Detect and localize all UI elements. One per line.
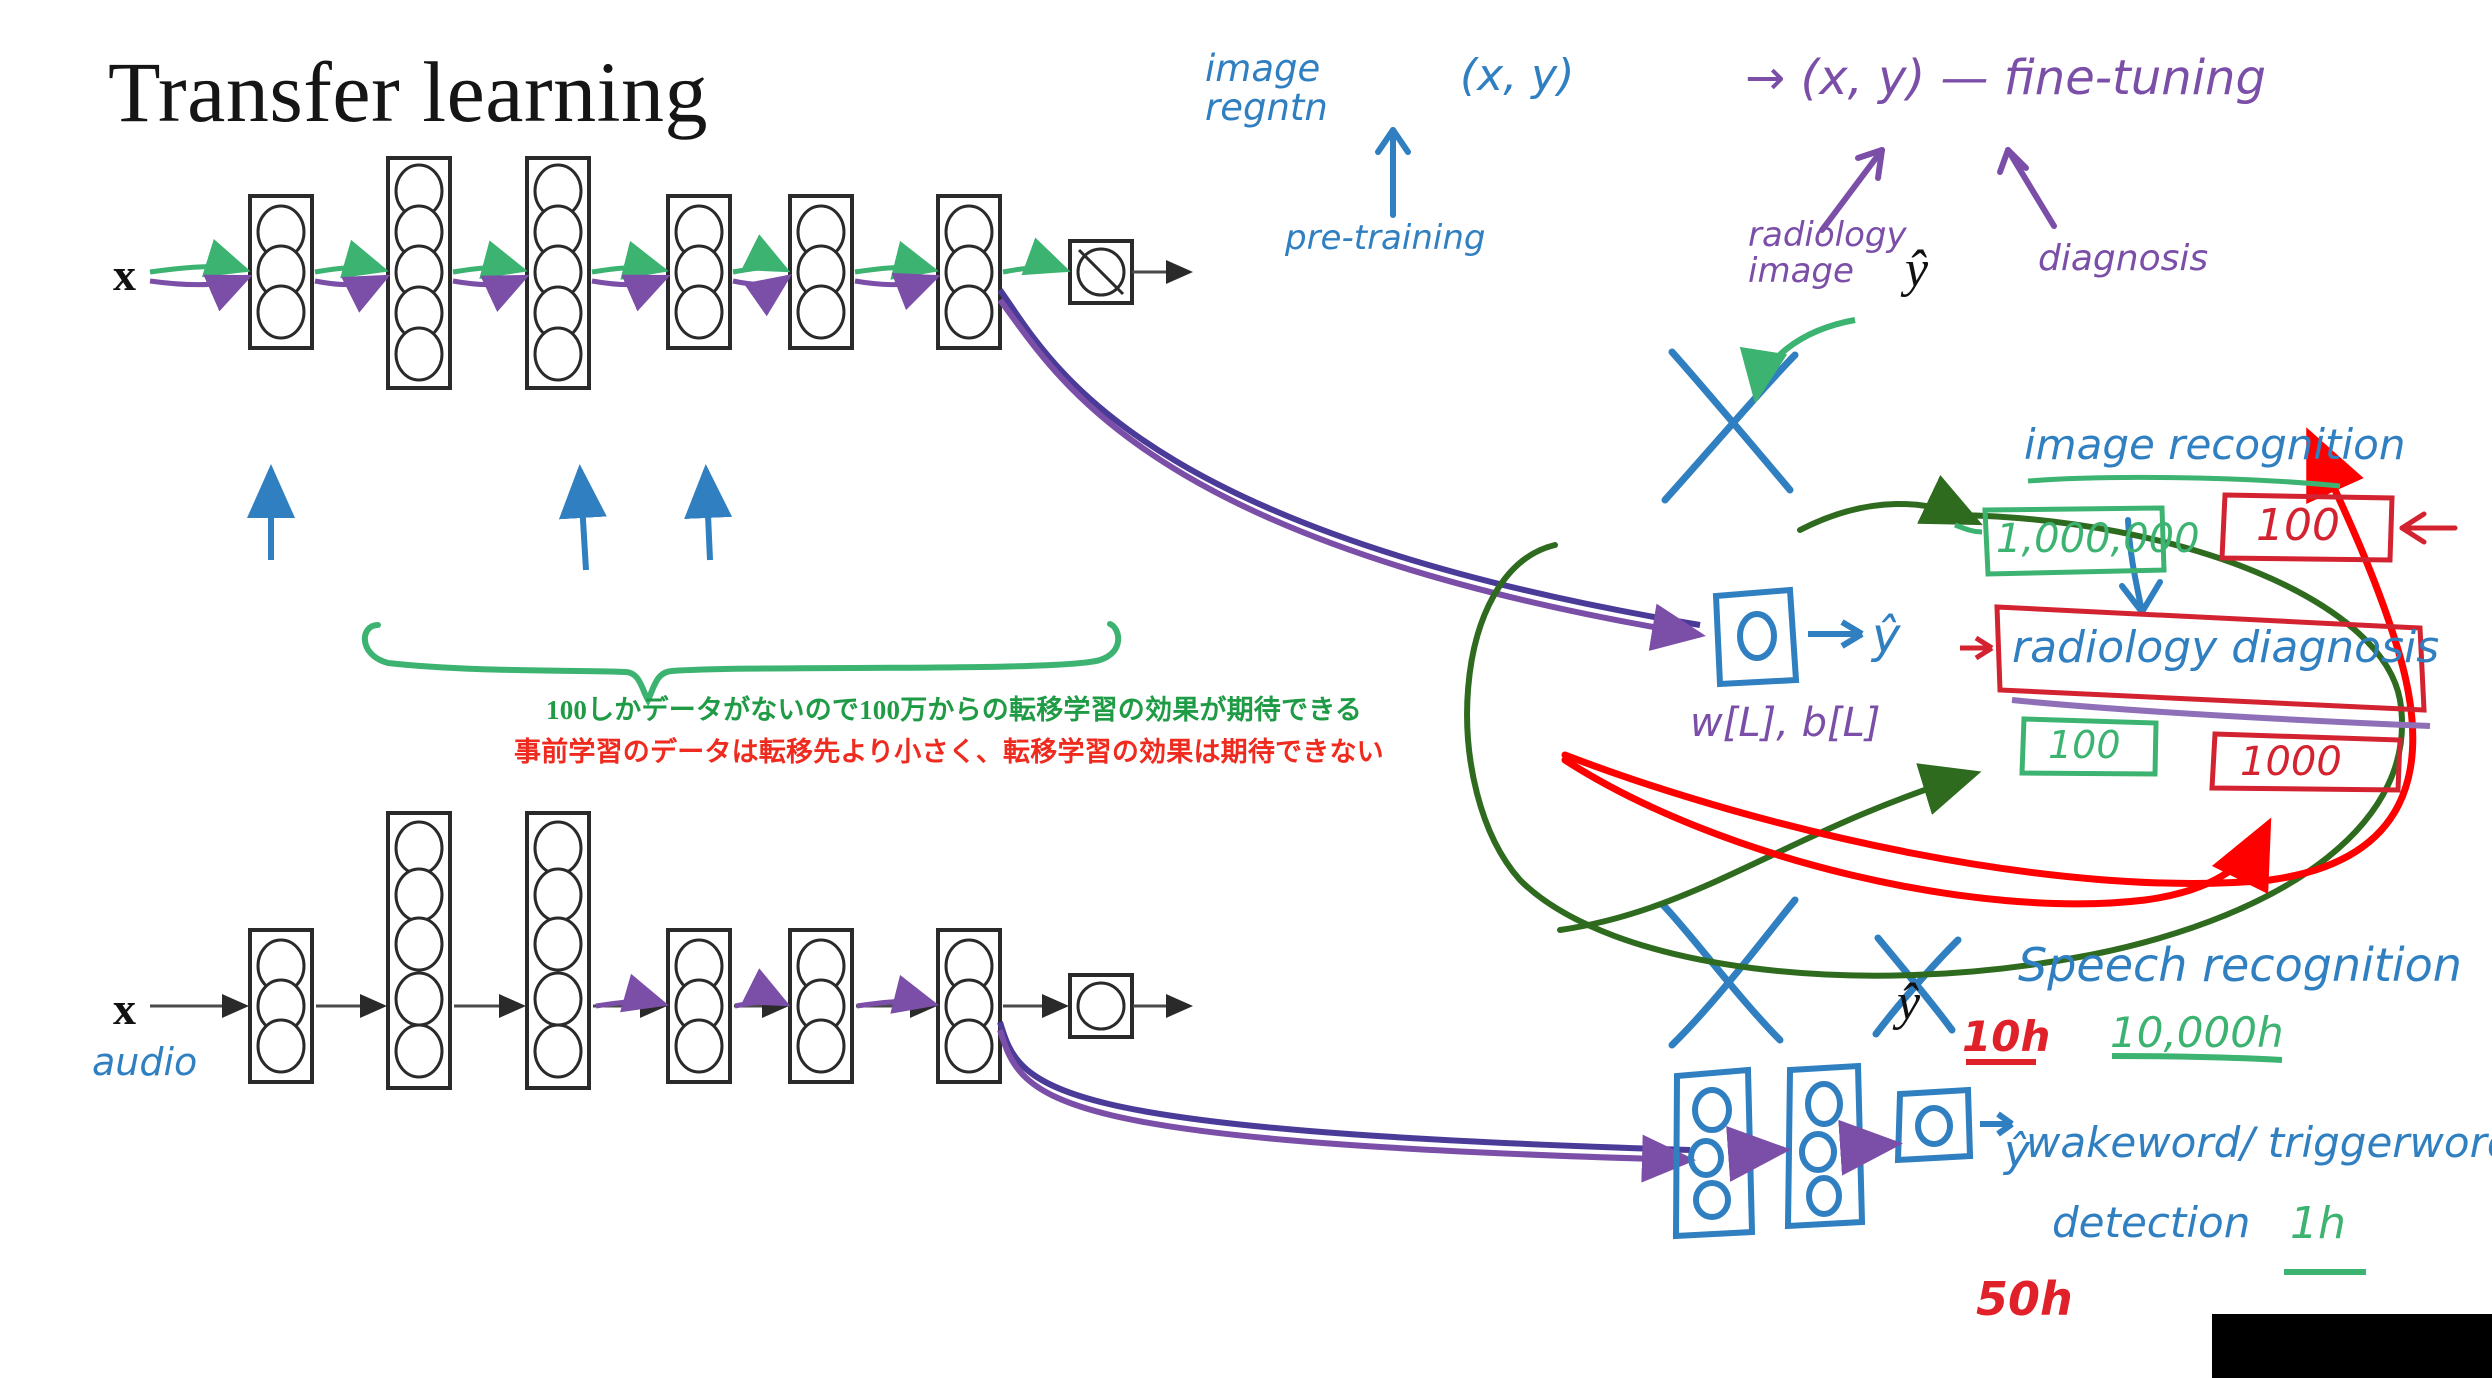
radiology-diagnosis-text: radiology diagnosis <box>2012 622 2439 673</box>
image-recognition-note: image regntn <box>1205 50 1328 128</box>
blue-up-arrows-top <box>271 470 710 570</box>
blue-bottom-head-boxes <box>1676 1066 2012 1236</box>
output-node-bottom <box>1070 975 1132 1037</box>
layer-box-b2 <box>388 813 450 1088</box>
green-box-1000000: 1,000,000 <box>1996 516 2200 562</box>
green-underline-image-recognition <box>2028 477 2340 486</box>
cross-out-top-output-icon <box>1665 352 1795 500</box>
hours-1h-green: 1h <box>2290 1198 2346 1249</box>
wakeword-title: wakeword/ triggerword <box>2026 1118 2492 1167</box>
yhat-handwritten-top: ŷ <box>1872 608 1900 664</box>
radiology-image-label: radiology image <box>1748 218 1907 289</box>
green-box-100: 100 <box>2048 723 2121 767</box>
layer-box-b6 <box>938 930 1000 1082</box>
layer-box-2 <box>388 158 450 388</box>
image-recognition-title: image recognition <box>2024 420 2405 469</box>
slide-canvas: Transfer learning <box>0 0 2492 1378</box>
hours-10h-red: 10h <box>1962 1012 2050 1061</box>
red-box-100: 100 <box>2256 500 2340 551</box>
layer-box-6 <box>938 196 1000 348</box>
green-arrow-radiology-image <box>1756 320 1855 398</box>
layer-box-b1 <box>250 930 312 1082</box>
purple-branch-bottom <box>1000 1022 1690 1160</box>
blue-new-head-box-top <box>1716 590 1862 684</box>
jp-note-green: 100しかデータがないので100万からの転移学習の効果が期待できる <box>546 688 1362 727</box>
layer-box-3 <box>527 158 589 388</box>
black-overlay-rectangle <box>2212 1314 2492 1378</box>
bottom-network-layers <box>150 813 1190 1088</box>
jp-note-red: 事前学習のデータは転移先より小さく、転移学習の効果は期待できない <box>514 730 1384 769</box>
hours-50h-red: 50h <box>1976 1272 2073 1326</box>
speech-recognition-title: Speech recognition <box>2018 938 2462 992</box>
layer-box-5 <box>790 196 852 348</box>
input-label-bottom: x <box>113 982 136 1035</box>
output-node-top <box>1070 241 1132 303</box>
green-arrow-into-1000000 <box>1955 525 1982 532</box>
input-label-top: x <box>113 248 136 301</box>
input-sub-label-audio: audio <box>92 1040 197 1084</box>
detection-title: detection <box>2052 1198 2250 1247</box>
layer-box-b5 <box>790 930 852 1082</box>
red-box-1000: 1000 <box>2240 739 2342 785</box>
output-label-bottom: ŷ <box>1897 973 1920 1032</box>
red-arrow-into-100 <box>2402 514 2455 542</box>
diagnosis-label: diagnosis <box>2038 238 2208 279</box>
purple-branch-to-new-head <box>1000 290 1700 635</box>
layer-box-4 <box>668 196 730 348</box>
hand-blue-top-notes <box>1378 130 1408 215</box>
output-label-top: ŷ <box>1905 240 1928 299</box>
layer-box-1 <box>250 196 312 348</box>
pre-training-label: pre-training <box>1285 218 1485 258</box>
fine-tuning-arrow-pair: → (x, y) — fine-tuning <box>1745 50 2266 106</box>
weights-bias-label: w[L], b[L] <box>1690 700 1881 746</box>
purple-arrows-bottom-head <box>1756 1144 1896 1152</box>
xy-pair-blue: (x, y) <box>1460 50 1574 101</box>
layer-box-b4 <box>668 930 730 1082</box>
layer-box-b3 <box>527 813 589 1088</box>
hours-10000h-green: 10,000h <box>2110 1008 2284 1057</box>
